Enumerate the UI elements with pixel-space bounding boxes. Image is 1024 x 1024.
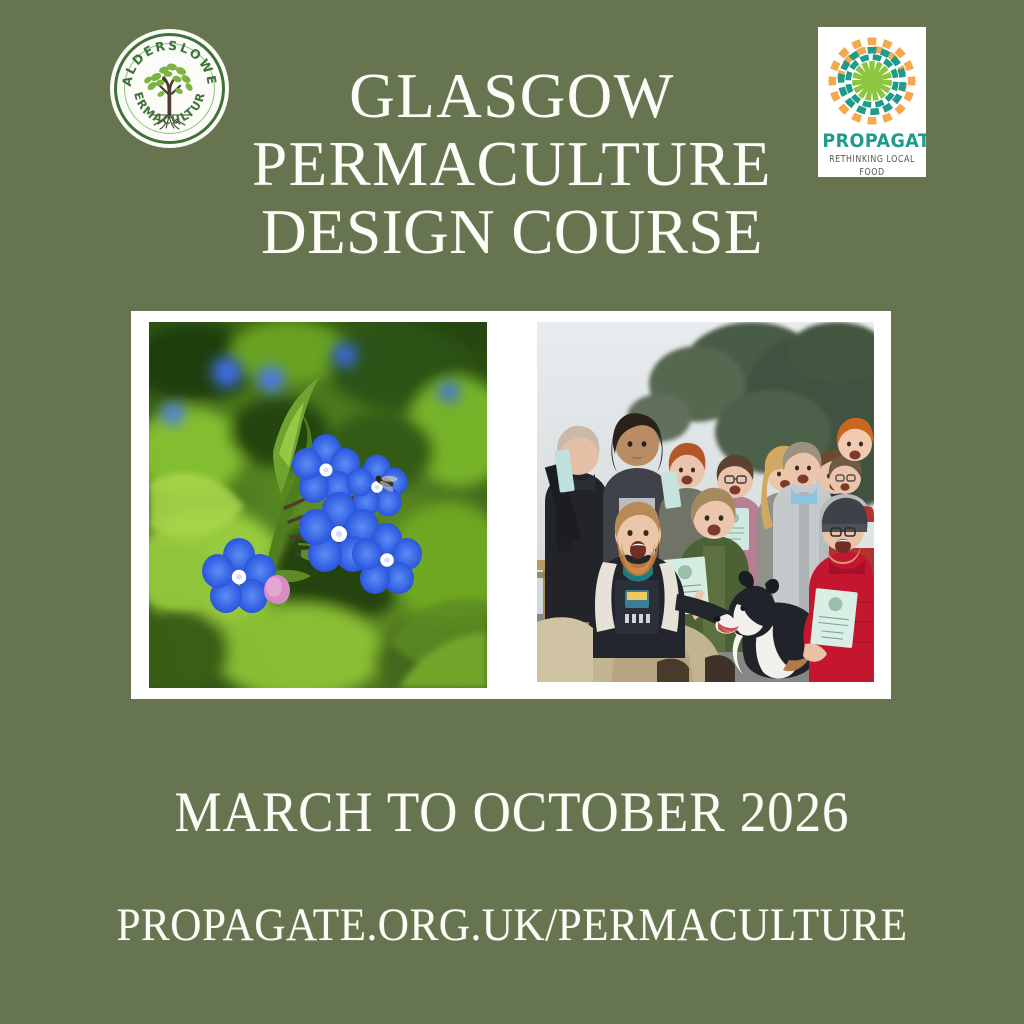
course-dates: MARCH TO OCTOBER 2026 [36, 780, 988, 845]
course-url: PROPAGATE.ORG.UK/PERMACULTURE [41, 898, 983, 952]
title-line-2: PERMACULTURE [120, 130, 904, 198]
blue-flowers-image [149, 322, 487, 688]
page-title: GLASGOW PERMACULTURE DESIGN COURSE [120, 62, 904, 266]
photo-blue-flowers [149, 322, 487, 688]
poster-canvas: ALDERSLOWE PERMACULTURE [0, 0, 1024, 1024]
graduates-group-image [537, 322, 874, 682]
photo-course-graduates [537, 322, 874, 682]
title-line-3: DESIGN COURSE [120, 198, 904, 266]
title-line-1: GLASGOW [120, 62, 904, 130]
photo-panel [131, 311, 891, 699]
